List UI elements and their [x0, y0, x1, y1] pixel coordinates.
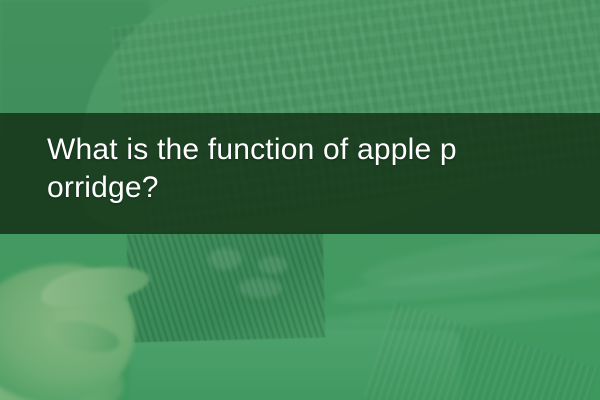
card-detail	[238, 278, 282, 298]
card-detail	[258, 256, 288, 274]
question-thumbnail-card: What is the function of apple p orridge?	[0, 0, 600, 400]
background-photo-bottom	[0, 234, 600, 400]
caption-band: What is the function of apple p orridge?	[0, 113, 600, 234]
question-text: What is the function of apple p orridge?	[47, 131, 586, 207]
card-detail	[208, 248, 242, 270]
